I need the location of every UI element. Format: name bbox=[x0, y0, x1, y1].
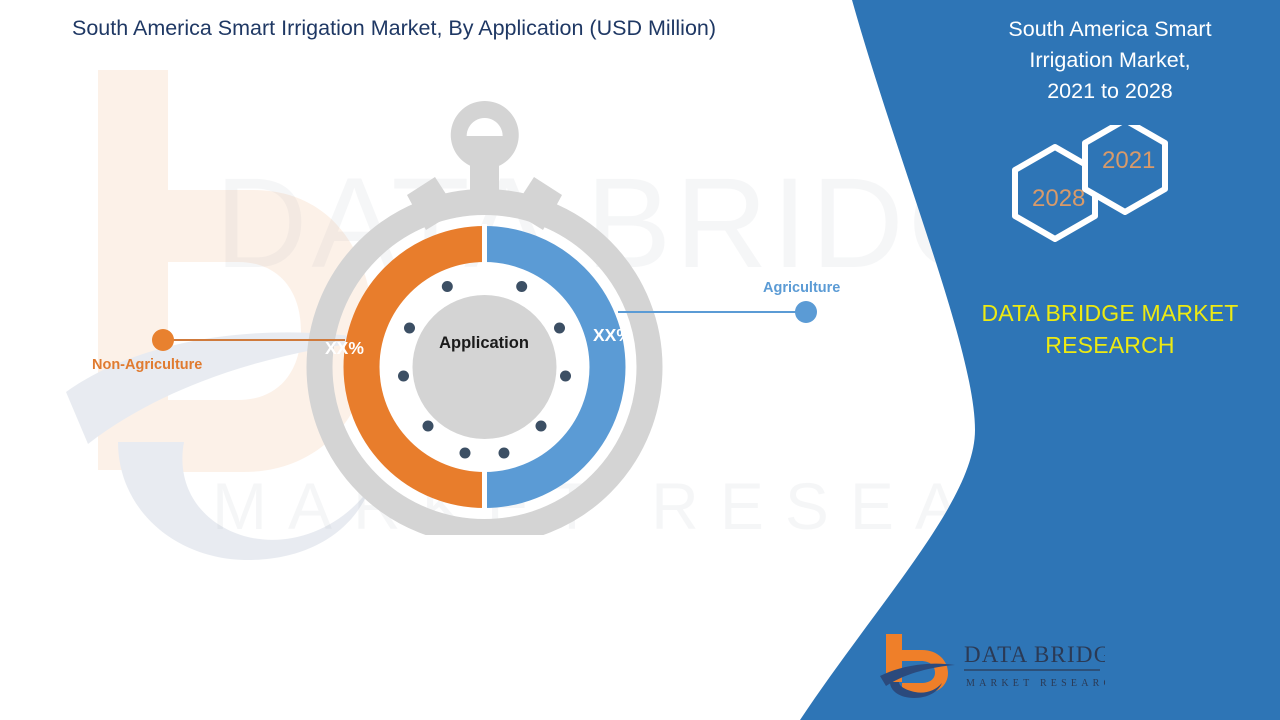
legend-item-non-agriculture[interactable]: Non-Agriculture bbox=[92, 357, 202, 373]
infographic-canvas: DATA BRIDGE MARKET RESEARCH South Americ… bbox=[0, 0, 1280, 720]
donut-label-non-agriculture-pct: XX% bbox=[325, 338, 364, 359]
logo-wordmark-line1: DATA BRIDGE bbox=[964, 642, 1105, 667]
logo-wordmark-line2: MARKET RESEARCH bbox=[966, 678, 1105, 689]
donut-label-agriculture-pct: XX% bbox=[593, 325, 632, 346]
leader-dot-left[interactable] bbox=[152, 329, 174, 351]
data-bridge-logo[interactable]: DATA BRIDGE MARKET RESEARCH bbox=[880, 628, 1105, 700]
legend-item-agriculture[interactable]: Agriculture bbox=[763, 280, 840, 296]
leader-dot-right[interactable] bbox=[795, 301, 817, 323]
